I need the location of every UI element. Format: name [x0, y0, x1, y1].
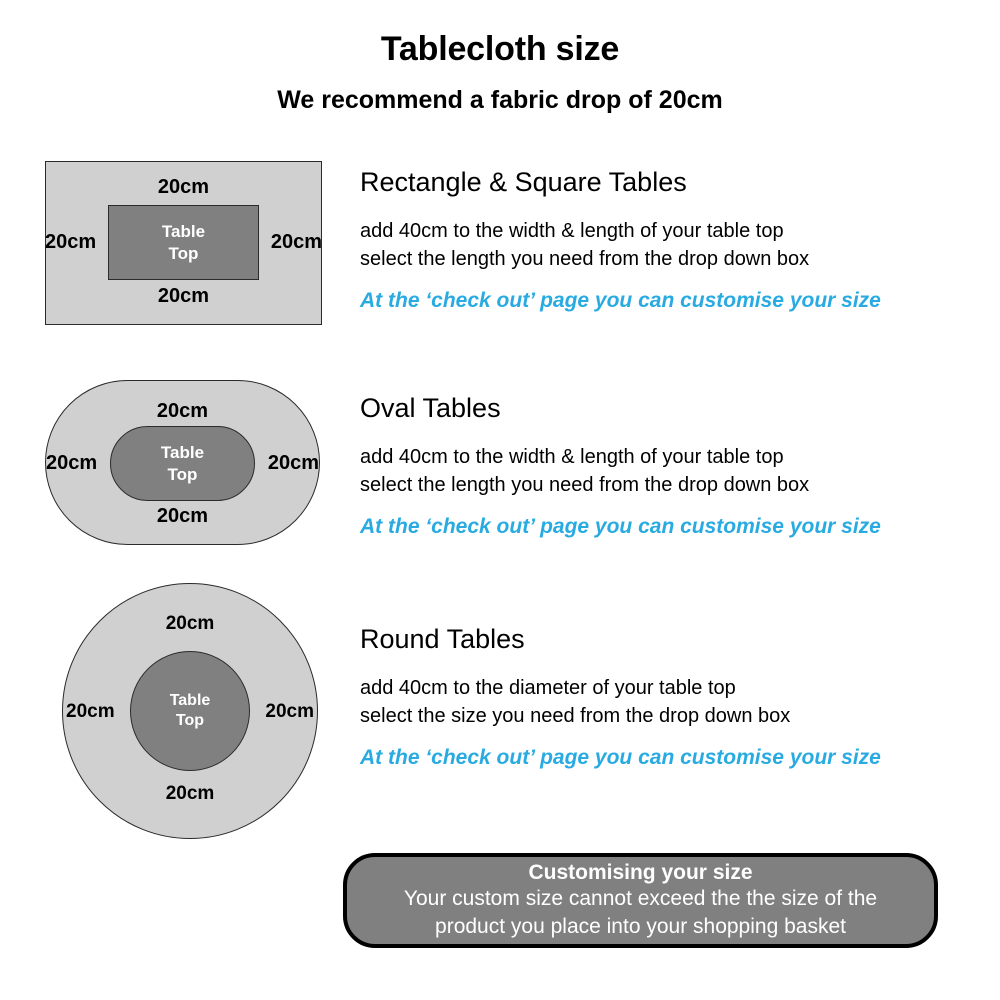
table-top-label-line2: Top [169, 243, 199, 265]
callout-line-1: Your custom size cannot exceed the the s… [404, 885, 877, 913]
table-top-label-line2: Top [168, 464, 198, 486]
section-line-1: add 40cm to the diameter of your table t… [360, 674, 980, 702]
checkout-note-oval: At the ‘check out’ page you can customis… [360, 515, 980, 539]
table-top-label-line1: Table [162, 221, 205, 243]
drop-label-top-round: 20cm [62, 613, 318, 635]
callout-line-2: product you place into your shopping bas… [435, 913, 846, 941]
section-oval-tables: Oval Tables add 40cm to the width & leng… [360, 394, 980, 539]
checkout-note-round: At the ‘check out’ page you can customis… [360, 746, 980, 770]
diagram-rectangle-table: 20cm 20cm 20cm 20cm Table Top [45, 161, 322, 325]
customising-your-size-callout: Customising your size Your custom size c… [343, 853, 938, 948]
section-body-round: add 40cm to the diameter of your table t… [360, 674, 980, 731]
table-top-oval: Table Top [110, 426, 255, 501]
table-top-round: Table Top [130, 651, 250, 771]
diagram-oval-table: 20cm 20cm 20cm 20cm Table Top [45, 380, 320, 545]
section-line-2: select the length you need from the drop… [360, 245, 980, 273]
drop-label-bottom-round: 20cm [62, 783, 318, 805]
diagram-round-table: 20cm 20cm 20cm 20cm Table Top [62, 583, 318, 839]
section-body-oval: add 40cm to the width & length of your t… [360, 443, 980, 500]
drop-label-left-oval: 20cm [46, 452, 97, 475]
drop-label-top-rectangle: 20cm [45, 176, 322, 199]
drop-label-right-round: 20cm [265, 701, 314, 723]
drop-label-bottom-oval: 20cm [45, 505, 320, 528]
section-title-round: Round Tables [360, 625, 980, 655]
section-line-1: add 40cm to the width & length of your t… [360, 217, 980, 245]
section-line-1: add 40cm to the width & length of your t… [360, 443, 980, 471]
table-top-label-line1: Table [170, 691, 211, 711]
section-body-rectangle: add 40cm to the width & length of your t… [360, 217, 980, 274]
drop-label-left-rectangle: 20cm [45, 231, 96, 254]
page-subtitle: We recommend a fabric drop of 20cm [0, 86, 1000, 115]
drop-label-right-oval: 20cm [268, 452, 319, 475]
drop-label-left-round: 20cm [66, 701, 115, 723]
drop-label-bottom-rectangle: 20cm [45, 285, 322, 308]
callout-title: Customising your size [528, 860, 752, 885]
page-title: Tablecloth size [0, 30, 1000, 69]
section-title-rectangle: Rectangle & Square Tables [360, 168, 980, 198]
section-title-oval: Oval Tables [360, 394, 980, 424]
section-line-2: select the size you need from the drop d… [360, 702, 980, 730]
drop-label-right-rectangle: 20cm [271, 231, 322, 254]
section-rectangle-square-tables: Rectangle & Square Tables add 40cm to th… [360, 168, 980, 313]
drop-label-top-oval: 20cm [45, 400, 320, 423]
checkout-note-rectangle: At the ‘check out’ page you can customis… [360, 289, 980, 313]
table-top-label-line2: Top [176, 711, 204, 731]
table-top-rectangle: Table Top [108, 205, 259, 280]
table-top-label-line1: Table [161, 442, 204, 464]
section-line-2: select the length you need from the drop… [360, 471, 980, 499]
section-round-tables: Round Tables add 40cm to the diameter of… [360, 625, 980, 770]
